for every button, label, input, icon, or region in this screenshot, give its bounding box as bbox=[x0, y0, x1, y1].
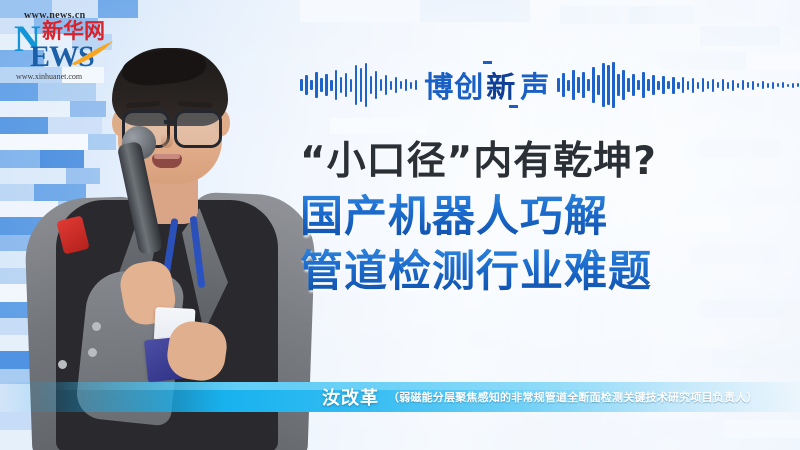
waveform-bar bbox=[567, 80, 570, 91]
waveform-bar bbox=[782, 82, 785, 88]
waveform-bar bbox=[722, 79, 725, 91]
waveform-bar bbox=[355, 65, 358, 105]
waveform-bar bbox=[300, 79, 303, 91]
waveform-bar bbox=[717, 82, 720, 88]
waveform-bar bbox=[385, 75, 388, 95]
waveform-bar bbox=[380, 79, 383, 91]
waveform-bar bbox=[335, 70, 338, 100]
xinhua-watermark-logo: www.news.cn N EWS 新华网 www.xinhuanet.com bbox=[8, 8, 112, 84]
waveform-bar bbox=[762, 81, 765, 89]
program-logo: 博创 新 声 bbox=[300, 60, 800, 110]
waveform-bar bbox=[772, 82, 775, 89]
waveform-bar bbox=[697, 82, 700, 89]
waveform-right-icon bbox=[557, 63, 800, 107]
jacket-button bbox=[88, 348, 97, 357]
caption-content: 汝改革 （弱磁能分层聚焦感知的非常规管道全断面检测关键技术研究项目负责人） bbox=[0, 382, 800, 412]
jacket-button bbox=[58, 360, 67, 369]
waveform-bar bbox=[777, 83, 780, 87]
waveform-bar bbox=[370, 76, 373, 94]
waveform-bar bbox=[557, 78, 560, 92]
glasses-lens-right bbox=[174, 110, 222, 148]
waveform-bar bbox=[732, 80, 735, 91]
waveform-bar bbox=[622, 70, 625, 100]
waveform-bar bbox=[592, 67, 595, 103]
upper-lip bbox=[154, 154, 180, 159]
waveform-bar bbox=[767, 83, 770, 88]
waveform-bar bbox=[687, 81, 690, 90]
program-title-part1: 博创 bbox=[424, 64, 484, 106]
waveform-bar bbox=[587, 79, 590, 91]
headline-line-1: “小口径”内有乾坤? bbox=[300, 138, 760, 185]
waveform-bar bbox=[657, 81, 660, 90]
waveform-bar bbox=[627, 78, 630, 92]
logo-bottom-url: www.xinhuanet.com bbox=[16, 72, 82, 81]
waveform-bar bbox=[390, 81, 393, 90]
speaker-name: 汝改革 bbox=[322, 384, 379, 410]
waveform-bar bbox=[315, 72, 318, 98]
waveform-bar bbox=[792, 83, 795, 88]
waveform-bar bbox=[747, 82, 750, 88]
waveform-bar bbox=[400, 81, 403, 89]
waveform-bar bbox=[360, 68, 363, 102]
headline-block: “小口径”内有乾坤? 国产机器人巧解 管道检测行业难题 bbox=[300, 138, 760, 298]
headline-line-3: 管道检测行业难题 bbox=[300, 246, 760, 298]
program-title-part2: 新 bbox=[484, 64, 517, 106]
glasses-bridge bbox=[164, 120, 176, 124]
waveform-bar bbox=[375, 71, 378, 99]
logo-brand-chinese: 新华网 bbox=[42, 21, 105, 42]
waveform-bar bbox=[345, 73, 348, 97]
waveform-bar bbox=[637, 80, 640, 90]
waveform-bar bbox=[737, 83, 740, 88]
waveform-bar bbox=[325, 74, 328, 96]
waveform-bar bbox=[602, 63, 605, 107]
waveform-bar bbox=[682, 77, 685, 93]
waveform-left-icon bbox=[300, 63, 417, 107]
waveform-bar bbox=[607, 65, 610, 105]
waveform-bar bbox=[712, 79, 715, 92]
waveform-bar bbox=[672, 77, 675, 94]
waveform-bar bbox=[617, 74, 620, 96]
waveform-bar bbox=[305, 75, 308, 95]
waveform-bar bbox=[787, 84, 790, 87]
headline-line-2: 国产机器人巧解 bbox=[300, 191, 760, 243]
waveform-bar bbox=[350, 79, 353, 92]
waveform-bar bbox=[395, 77, 398, 93]
logo-swoosh-icon bbox=[70, 40, 114, 66]
jacket-button bbox=[92, 322, 101, 331]
waveform-bar bbox=[677, 82, 680, 89]
waveform-bar bbox=[340, 77, 343, 93]
waveform-bar bbox=[562, 73, 565, 97]
waveform-bar bbox=[692, 78, 695, 93]
program-title-part3: 声 bbox=[517, 64, 550, 106]
speaker-role: （弱磁能分层聚焦感知的非常规管道全断面检测关键技术研究项目负责人） bbox=[388, 389, 758, 405]
waveform-bar bbox=[752, 81, 755, 90]
waveform-bar bbox=[662, 76, 665, 94]
waveform-bar bbox=[667, 81, 670, 89]
waveform-bar bbox=[577, 77, 580, 93]
video-frame: www.news.cn N EWS 新华网 www.xinhuanet.com … bbox=[0, 0, 800, 450]
waveform-bar bbox=[647, 79, 650, 91]
waveform-bar bbox=[797, 83, 800, 87]
waveform-bar bbox=[652, 75, 655, 95]
nose bbox=[161, 134, 173, 148]
waveform-bar bbox=[365, 63, 368, 107]
waveform-bar bbox=[330, 80, 333, 91]
waveform-bar bbox=[572, 70, 575, 100]
waveform-bar bbox=[742, 80, 745, 90]
waveform-bar bbox=[597, 75, 600, 95]
waveform-bar bbox=[702, 78, 705, 92]
waveform-bar bbox=[320, 78, 323, 92]
waveform-bar bbox=[310, 80, 313, 90]
waveform-bar bbox=[405, 79, 408, 91]
waveform-bar bbox=[612, 62, 615, 108]
waveform-bar bbox=[415, 80, 418, 90]
waveform-bar bbox=[632, 74, 635, 96]
waveform-bar bbox=[410, 82, 413, 89]
program-title: 博创 新 声 bbox=[424, 64, 550, 106]
waveform-bar bbox=[642, 72, 645, 98]
waveform-bar bbox=[727, 82, 730, 89]
waveform-bar bbox=[707, 81, 710, 89]
waveform-bar bbox=[757, 83, 760, 87]
waveform-bar bbox=[582, 72, 585, 98]
